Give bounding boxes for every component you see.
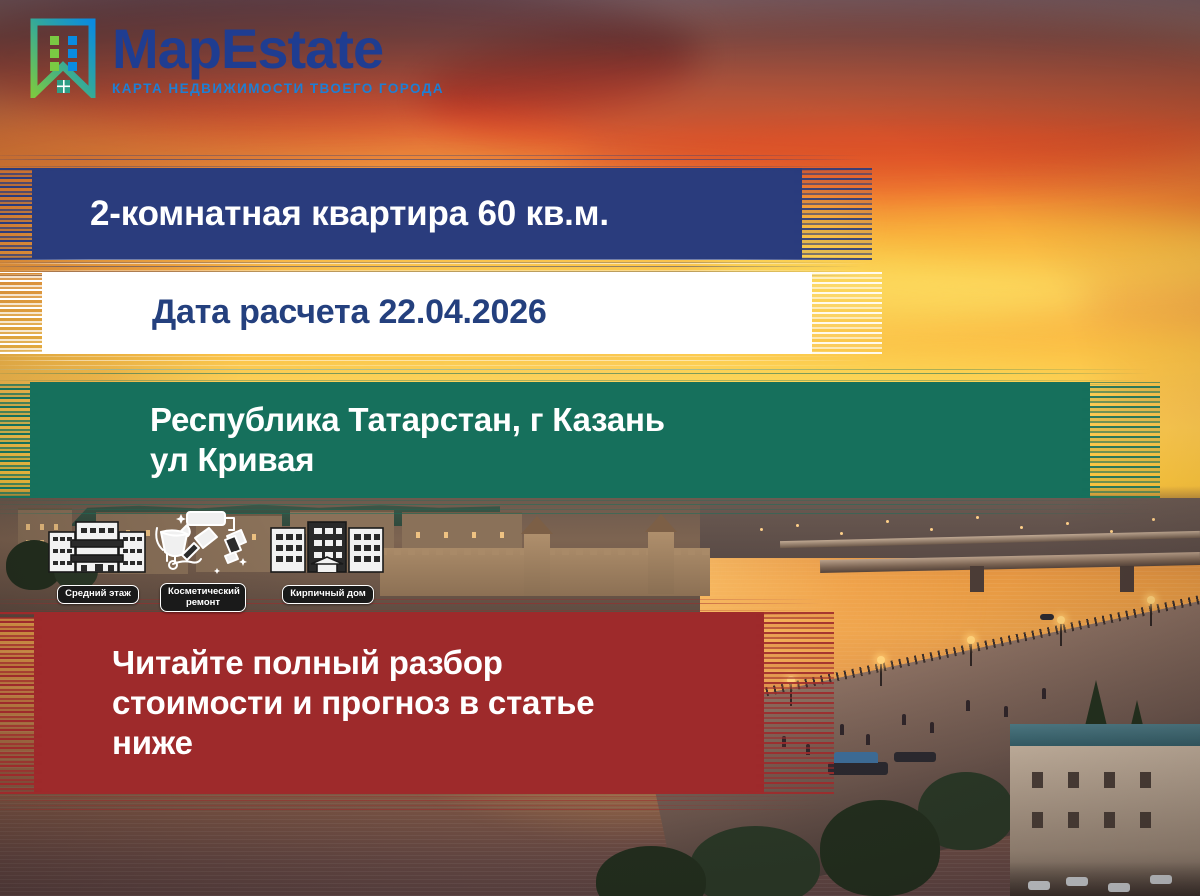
- property-promo-poster: MapEstate КАРТА НЕДВИЖИМОСТИ ТВОЕГО ГОРО…: [0, 0, 1200, 896]
- feature-badge-floor: Средний этаж: [40, 516, 156, 604]
- map-pin-building-icon: [28, 18, 98, 98]
- brand-name: MapEstate: [112, 21, 444, 77]
- cta-band: Читайте полный разбор стоимости и прогно…: [34, 612, 764, 794]
- brand-tagline: КАРТА НЕДВИЖИМОСТИ ТВОЕГО ГОРОДА: [112, 81, 444, 96]
- mid-rise-building-icon: [40, 516, 156, 583]
- brand-logo[interactable]: MapEstate КАРТА НЕДВИЖИМОСТИ ТВОЕГО ГОРО…: [28, 18, 444, 98]
- date-band: Дата расчета 22.04.2026: [42, 272, 812, 354]
- cta-line-1: Читайте полный разбор: [112, 644, 503, 681]
- cta-line-2: стоимости и прогноз в статье: [112, 684, 594, 721]
- calculation-date: Дата расчета 22.04.2026: [42, 292, 547, 333]
- feature-badge-brick: Кирпичный дом: [258, 516, 398, 604]
- cta-text: Читайте полный разбор стоимости и прогно…: [34, 643, 594, 764]
- cta-line-3: ниже: [112, 724, 193, 761]
- title-band: 2-комнатная квартира 60 кв.м.: [32, 168, 802, 260]
- paint-roller-brush-icon: [148, 508, 258, 583]
- address-band: Республика Татарстан, г Казань ул Кривая: [30, 382, 1090, 498]
- feature-label-floor: Средний этаж: [57, 585, 139, 604]
- feature-badge-repair: Косметический ремонт: [148, 508, 258, 612]
- address-line-2: ул Кривая: [150, 441, 314, 478]
- brick-apartment-icon: [258, 516, 398, 583]
- feature-label-brick: Кирпичный дом: [282, 585, 374, 604]
- feature-label-repair: Косметический ремонт: [160, 583, 246, 612]
- address-line-1: Республика Татарстан, г Казань: [150, 401, 665, 438]
- property-title: 2-комнатная квартира 60 кв.м.: [32, 193, 609, 236]
- feature-badges: Средний этаж: [40, 508, 400, 608]
- property-address: Республика Татарстан, г Казань ул Кривая: [30, 400, 665, 481]
